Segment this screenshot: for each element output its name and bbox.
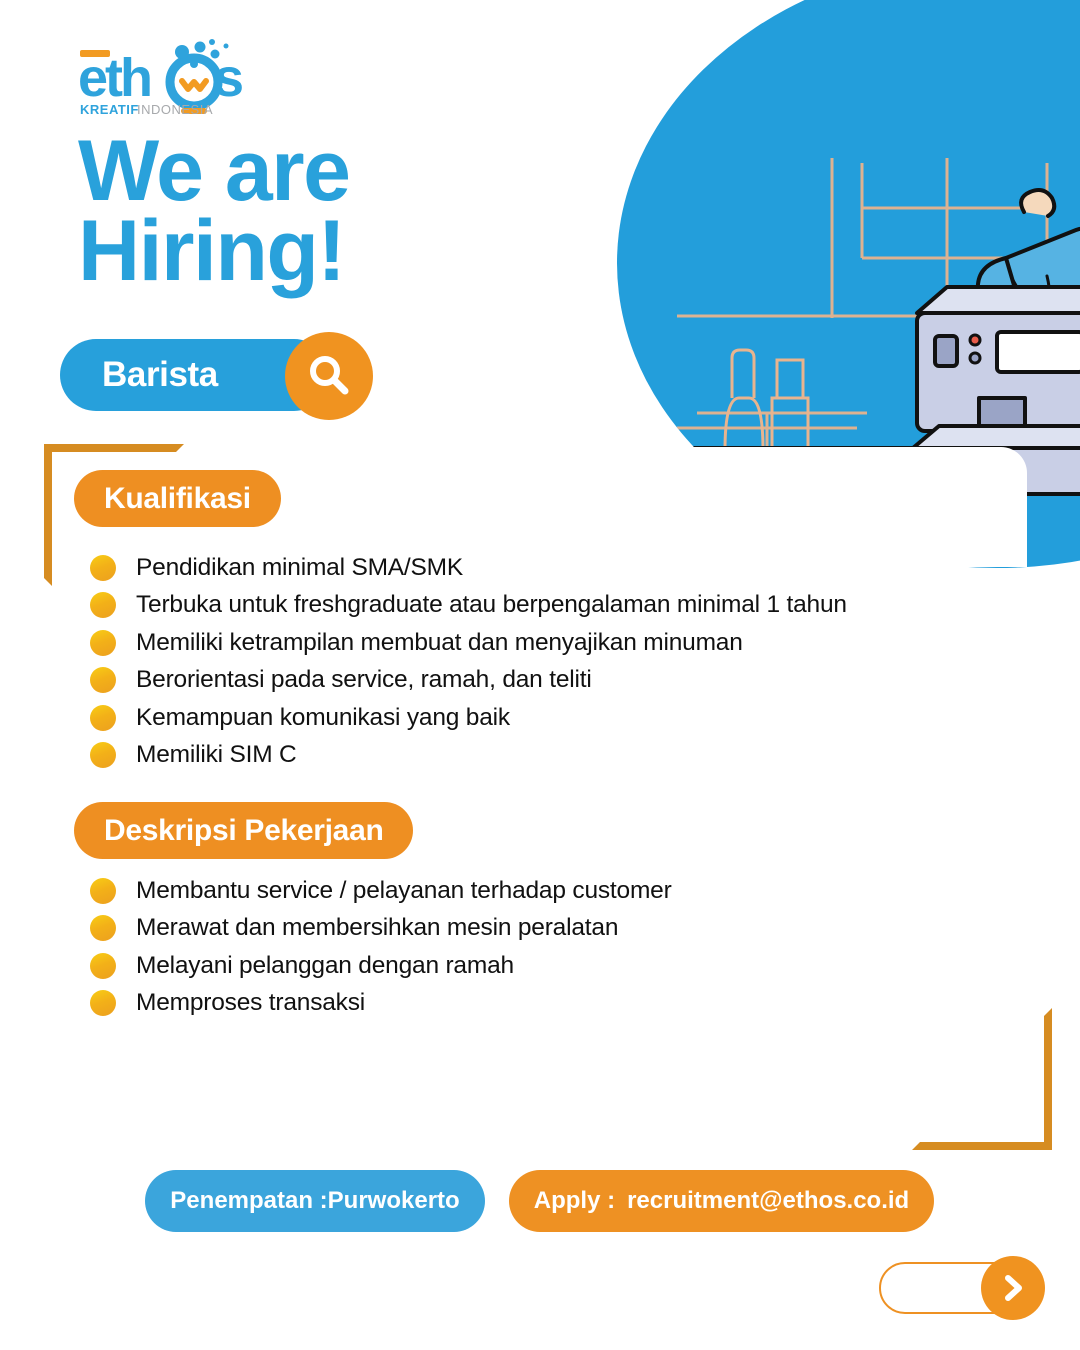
ethos-logo: eth s KREATIF INDONESIA [78,38,278,116]
section-heading-deskripsi-pekerjaan: Deskripsi Pekerjaan [74,802,413,859]
list-item: Berorientasi pada service, ramah, dan te… [90,662,847,700]
qualifications-list: Pendidikan minimal SMA/SMK Terbuka untuk… [90,549,847,774]
list-item-text: Membantu service / pelayanan terhadap cu… [136,877,672,905]
list-item: Memiliki SIM C [90,737,847,775]
list-item-text: Melayani pelanggan dengan ramah [136,952,514,980]
apply-badge[interactable]: Apply : recruitment@ethos.co.id [509,1170,934,1232]
placement-label: Penempatan : [170,1187,327,1215]
list-item-text: Memproses transaksi [136,989,365,1017]
list-item: Memproses transaksi [90,985,672,1023]
svg-text:KREATIF: KREATIF [80,102,139,116]
role-label: Barista [102,355,218,395]
list-item-text: Kemampuan komunikasi yang baik [136,704,510,732]
list-item: Merawat dan membersihkan mesin peralatan [90,910,672,948]
apply-email: recruitment@ethos.co.id [627,1187,909,1215]
list-item: Memiliki ketrampilan membuat dan menyaji… [90,624,847,662]
bullet-dot-icon [90,878,116,904]
list-item-text: Merawat dan membersihkan mesin peralatan [136,914,618,942]
bullet-dot-icon [90,990,116,1016]
svg-text:INDONESIA: INDONESIA [137,102,213,116]
headline-line-2: Hiring! [78,212,349,292]
list-item: Kemampuan komunikasi yang baik [90,699,847,737]
list-item: Pendidikan minimal SMA/SMK [90,549,847,587]
bullet-dot-icon [90,953,116,979]
bullet-dot-icon [90,555,116,581]
bracket-decoration-bottom-right [912,1008,1052,1150]
list-item-text: Memiliki SIM C [136,741,297,769]
list-item: Terbuka untuk freshgraduate atau berpeng… [90,587,847,625]
page-title: We are Hiring! [78,132,349,292]
bullet-dot-icon [90,630,116,656]
list-item-text: Memiliki ketrampilan membuat dan menyaji… [136,629,743,657]
apply-label: Apply : [534,1187,615,1215]
placement-badge: Penempatan : Purwokerto [145,1170,485,1232]
search-icon[interactable] [285,332,373,420]
bullet-dot-icon [90,705,116,731]
list-item: Membantu service / pelayanan terhadap cu… [90,872,672,910]
section-heading-kualifikasi: Kualifikasi [74,470,281,527]
bullet-dot-icon [90,667,116,693]
list-item-text: Berorientasi pada service, ramah, dan te… [136,666,592,694]
list-item-text: Terbuka untuk freshgraduate atau berpeng… [136,591,847,619]
bullet-dot-icon [90,592,116,618]
bullet-dot-icon [90,915,116,941]
svg-text:eth: eth [78,48,150,108]
list-item-text: Pendidikan minimal SMA/SMK [136,554,463,582]
list-item: Melayani pelanggan dengan ramah [90,947,672,985]
job-description-list: Membantu service / pelayanan terhadap cu… [90,872,672,1022]
bullet-dot-icon [90,742,116,768]
chevron-right-icon[interactable] [981,1256,1045,1320]
placement-value: Purwokerto [328,1187,460,1215]
